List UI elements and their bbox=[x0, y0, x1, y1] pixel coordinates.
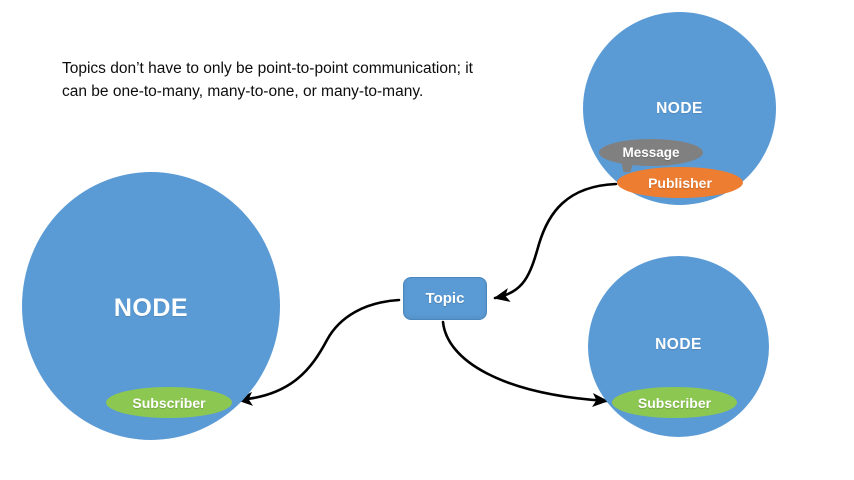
topic-box[interactable]: Topic bbox=[403, 277, 487, 320]
connector-topic-to-subscriber-bottomright bbox=[443, 322, 607, 401]
caption-text: Topics don’t have to only be point-to-po… bbox=[62, 58, 482, 104]
node-left-label: NODE bbox=[22, 294, 280, 323]
publisher-pill[interactable]: Publisher bbox=[617, 167, 743, 198]
subscriber-pill-left[interactable]: Subscriber bbox=[106, 387, 232, 418]
node-bottomright-label: NODE bbox=[588, 336, 769, 354]
subscriber-pill-bottomright[interactable]: Subscriber bbox=[612, 387, 737, 418]
node-topright-label: NODE bbox=[583, 100, 776, 118]
connector-publisher-to-topic bbox=[495, 184, 616, 298]
slide-canvas: Topics don’t have to only be point-to-po… bbox=[0, 0, 854, 480]
message-callout[interactable]: Message bbox=[599, 139, 703, 166]
